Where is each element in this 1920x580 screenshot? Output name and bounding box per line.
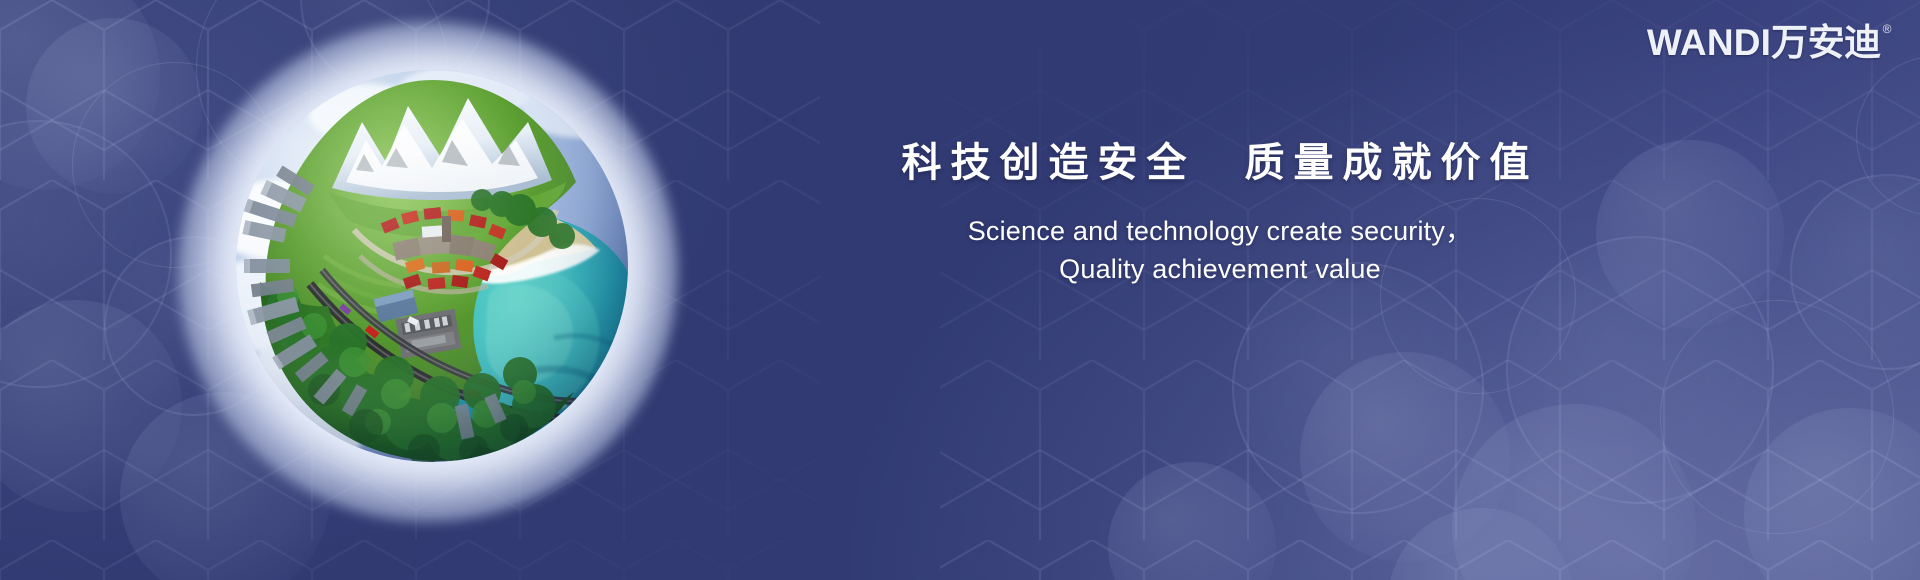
registered-trademark-icon: ®: [1883, 23, 1892, 35]
bokeh-circle: [1232, 262, 1484, 514]
globe-illustration: [178, 22, 678, 522]
bokeh-circle: [1388, 508, 1574, 580]
headline-slogan: 科技创造安全 质量成就价值: [740, 138, 1700, 188]
brand-logo[interactable]: WANDI 万安迪 ®: [1647, 24, 1892, 61]
bokeh-circle: [0, 300, 182, 512]
bokeh-circle: [0, 0, 160, 190]
bokeh-circle: [1856, 56, 1920, 216]
subtitle-line-2: Quality achievement value: [740, 250, 1700, 288]
bokeh-circle: [26, 18, 202, 194]
subtitle-slogan: Science and technology create security， …: [740, 212, 1700, 289]
bokeh-circle: [1660, 300, 1894, 534]
bokeh-circle: [1790, 174, 1920, 370]
brand-logo-latin: WANDI: [1647, 24, 1771, 61]
globe-icon: [236, 70, 628, 462]
banner-copy: 科技创造安全 质量成就价值 Science and technology cre…: [740, 138, 1700, 289]
bokeh-circle: [1108, 462, 1276, 580]
promo-banner: WANDI 万安迪 ® 科技创造安全 质量成就价值 Science and te…: [0, 0, 1920, 580]
bokeh-circle: [1300, 352, 1510, 562]
bokeh-circle: [1452, 404, 1696, 580]
bokeh-circle: [0, 120, 172, 388]
subtitle-line-1: Science and technology create security，: [740, 212, 1700, 250]
bokeh-circle: [1744, 408, 1920, 580]
brand-logo-cjk: 万安迪: [1771, 24, 1881, 61]
